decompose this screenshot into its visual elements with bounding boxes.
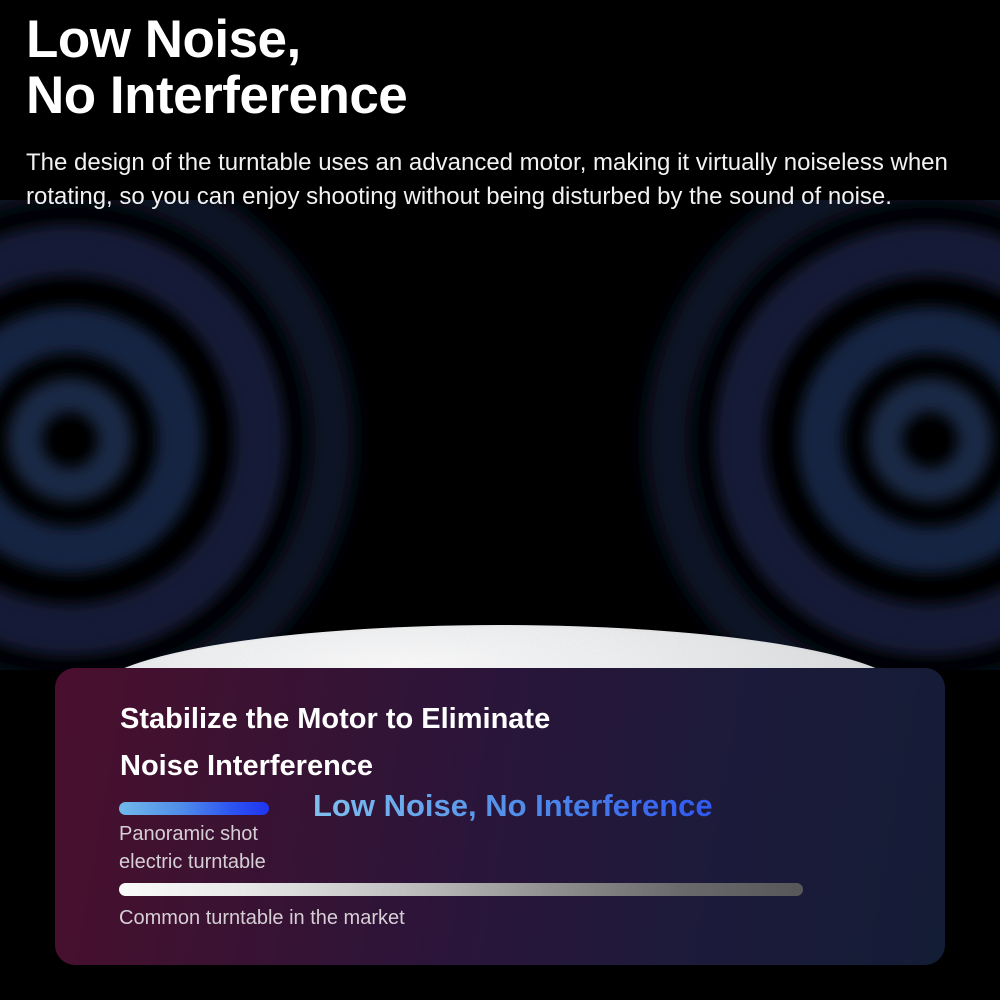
product-bar-label-line-1: Panoramic shot [119, 820, 379, 848]
product-bar-label-line-2: electric turntable [119, 848, 379, 876]
competitor-noise-bar [119, 883, 803, 896]
product-bar-label: Panoramic shot electric turntable [119, 820, 379, 876]
headline-line-1: Low Noise, [26, 12, 976, 68]
competitor-bar-label: Common turntable in the market [119, 904, 619, 932]
highlight-text: Low Noise, No Interference [313, 786, 873, 826]
marketing-page: Low Noise, No Interference The design of… [0, 0, 1000, 1000]
product-noise-bar [119, 802, 269, 815]
headline-line-2: No Interference [26, 68, 976, 124]
card-title-line-1: Stabilize the Motor to Eliminate [120, 696, 880, 743]
card-title: Stabilize the Motor to Eliminate Noise I… [120, 696, 880, 790]
comparison-card: Stabilize the Motor to Eliminate Noise I… [55, 668, 945, 965]
turntable-product-image: AMBITFUL [0, 300, 1000, 630]
card-title-line-2: Noise Interference [120, 743, 880, 790]
header-body-copy: The design of the turntable uses an adva… [26, 146, 966, 214]
header-block: Low Noise, No Interference The design of… [26, 12, 976, 214]
